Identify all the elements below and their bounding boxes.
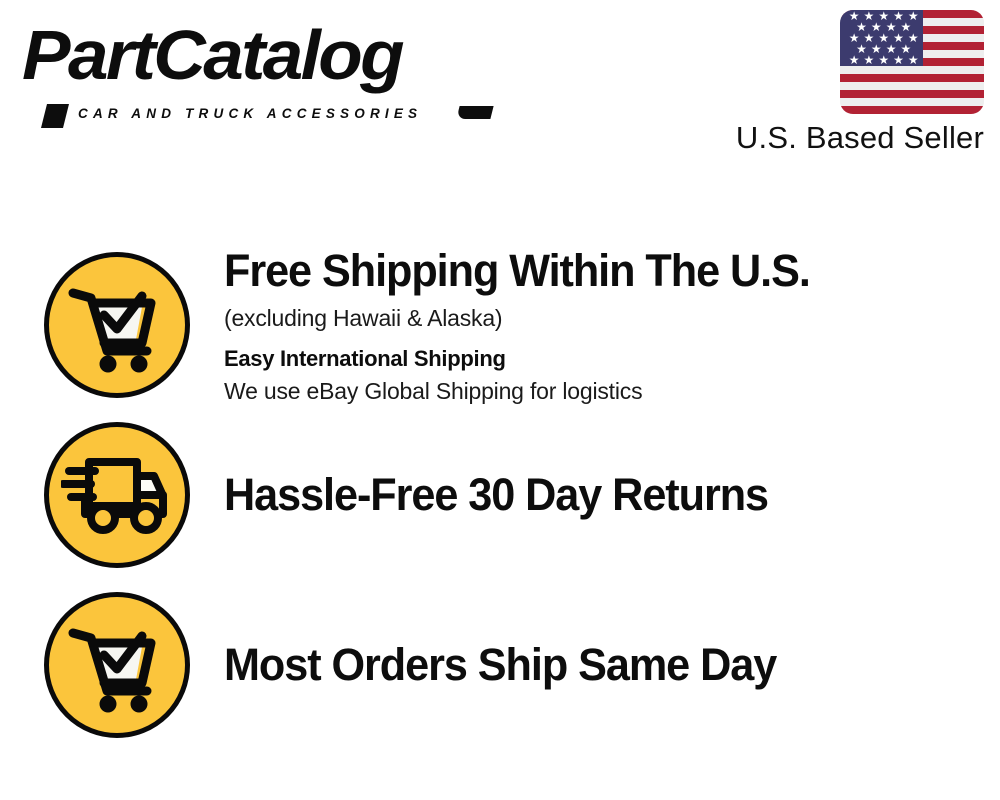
feature-text: Free Shipping Within The U.S. (excluding… bbox=[224, 245, 1000, 406]
feature-title: Free Shipping Within The U.S. bbox=[224, 245, 950, 297]
flag-star-icon: ★ bbox=[848, 54, 860, 66]
feature-text: Hassle-Free 30 Day Returns bbox=[224, 469, 1000, 521]
feature-subtitle: We use eBay Global Shipping for logistic… bbox=[224, 376, 980, 406]
feature-note: (excluding Hawaii & Alaska) bbox=[224, 303, 980, 333]
flag-stars: ★★★★★★★★★★★★★★★★★★★★★★★ bbox=[840, 10, 923, 66]
logo-flourish-left bbox=[41, 104, 69, 128]
logo-flourish-right bbox=[456, 106, 493, 119]
flag-star-icon: ★ bbox=[892, 54, 904, 66]
feature-row: Hassle-Free 30 Day Returns bbox=[0, 420, 1000, 570]
feature-title: Most Orders Ship Same Day bbox=[224, 639, 950, 691]
feature-subtitle-strong: Easy International Shipping bbox=[224, 345, 980, 373]
brand-name: PartCatalog bbox=[22, 14, 402, 96]
feature-text: Most Orders Ship Same Day bbox=[224, 639, 1000, 691]
flag-canton: ★★★★★★★★★★★★★★★★★★★★★★★ bbox=[840, 10, 923, 66]
delivery-truck-icon bbox=[44, 422, 190, 568]
banner-header: PartCatalog CAR AND TRUCK ACCESSORIES ★★… bbox=[0, 0, 1000, 175]
us-flag-icon: ★★★★★★★★★★★★★★★★★★★★★★★ bbox=[840, 10, 984, 114]
flag-star-icon: ★ bbox=[863, 54, 875, 66]
brand-logo: PartCatalog CAR AND TRUCK ACCESSORIES bbox=[22, 18, 492, 118]
feature-row: Free Shipping Within The U.S. (excluding… bbox=[0, 250, 1000, 400]
shopping-cart-check-icon bbox=[44, 252, 190, 398]
seller-origin-label: U.S. Based Seller bbox=[600, 118, 984, 158]
feature-row: Most Orders Ship Same Day bbox=[0, 590, 1000, 740]
feature-list: Free Shipping Within The U.S. (excluding… bbox=[0, 175, 1000, 800]
shopping-cart-check-icon bbox=[44, 592, 190, 738]
feature-title: Hassle-Free 30 Day Returns bbox=[224, 469, 950, 521]
flag-star-icon: ★ bbox=[878, 54, 890, 66]
brand-tagline: CAR AND TRUCK ACCESSORIES bbox=[78, 106, 422, 121]
flag-star-icon: ★ bbox=[907, 54, 919, 66]
